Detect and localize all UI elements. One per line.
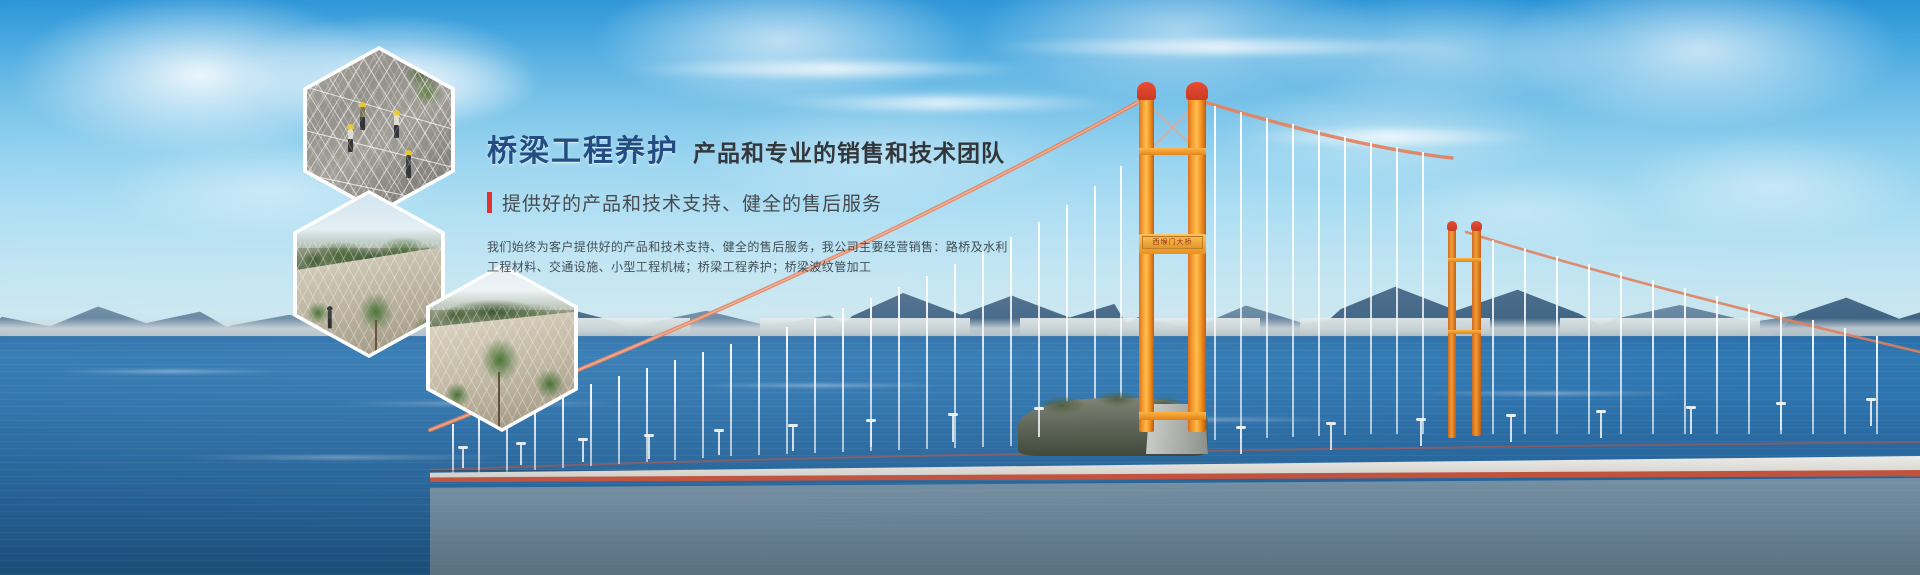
tower-sign-text: 西堠门大桥 [1142, 236, 1203, 249]
banner-body-text: 我们始终为客户提供好的产品和技术支持、健全的售后服务，我公司主要经营销售：路桥及… [487, 237, 917, 277]
suspension-bridge: 西堠门大桥 [0, 0, 1920, 575]
tower-cross-beam [1139, 412, 1206, 420]
far-tower-cross-beam [1448, 258, 1481, 262]
subline-text: 提供好的产品和技术支持、健全的售后服务 [502, 189, 882, 216]
headline-secondary: 产品和专业的销售和技术团队 [693, 134, 1005, 168]
bridge-tower-left-leg [1139, 96, 1154, 432]
island-vegetation [1090, 388, 1144, 410]
slope-mesh-vegetation-image [297, 194, 441, 354]
hero-banner: 西堠门大桥 [0, 0, 1920, 575]
deck-underside [430, 478, 1920, 575]
headline-primary: 桥梁工程养护 [487, 126, 679, 170]
far-tower-cap [1447, 221, 1457, 231]
body-line-2: 工程材料、交通设施、小型工程机械；桥梁工程养护；桥梁波纹管加工 [487, 257, 917, 277]
banner-headline: 桥梁工程养护 产品和专业的销售和技术团队 [487, 126, 1047, 170]
hex-photo-2[interactable] [293, 190, 445, 358]
tower-cap [1186, 82, 1208, 100]
body-line-1: 我们始终为客户提供好的产品和技术支持、健全的售后服务，我公司主要经营销售：路桥及… [487, 237, 917, 257]
bridge-tower-right-leg [1188, 96, 1206, 432]
hex-photo-1[interactable] [303, 46, 455, 214]
tower-cross-beam [1139, 148, 1206, 155]
far-tower-cap [1471, 221, 1482, 231]
banner-text-block: 桥梁工程养护 产品和专业的销售和技术团队 提供好的产品和技术支持、健全的售后服务… [487, 126, 1047, 277]
far-tower-cross-beam [1448, 330, 1481, 334]
red-accent-bar [487, 192, 492, 213]
hex-photo-3[interactable] [426, 264, 578, 432]
slope-mesh-roadside-image [430, 268, 574, 428]
banner-subline: 提供好的产品和技术支持、健全的售后服务 [487, 189, 1047, 216]
tower-cap [1137, 82, 1156, 100]
rock-slope-mesh-image [307, 50, 451, 210]
